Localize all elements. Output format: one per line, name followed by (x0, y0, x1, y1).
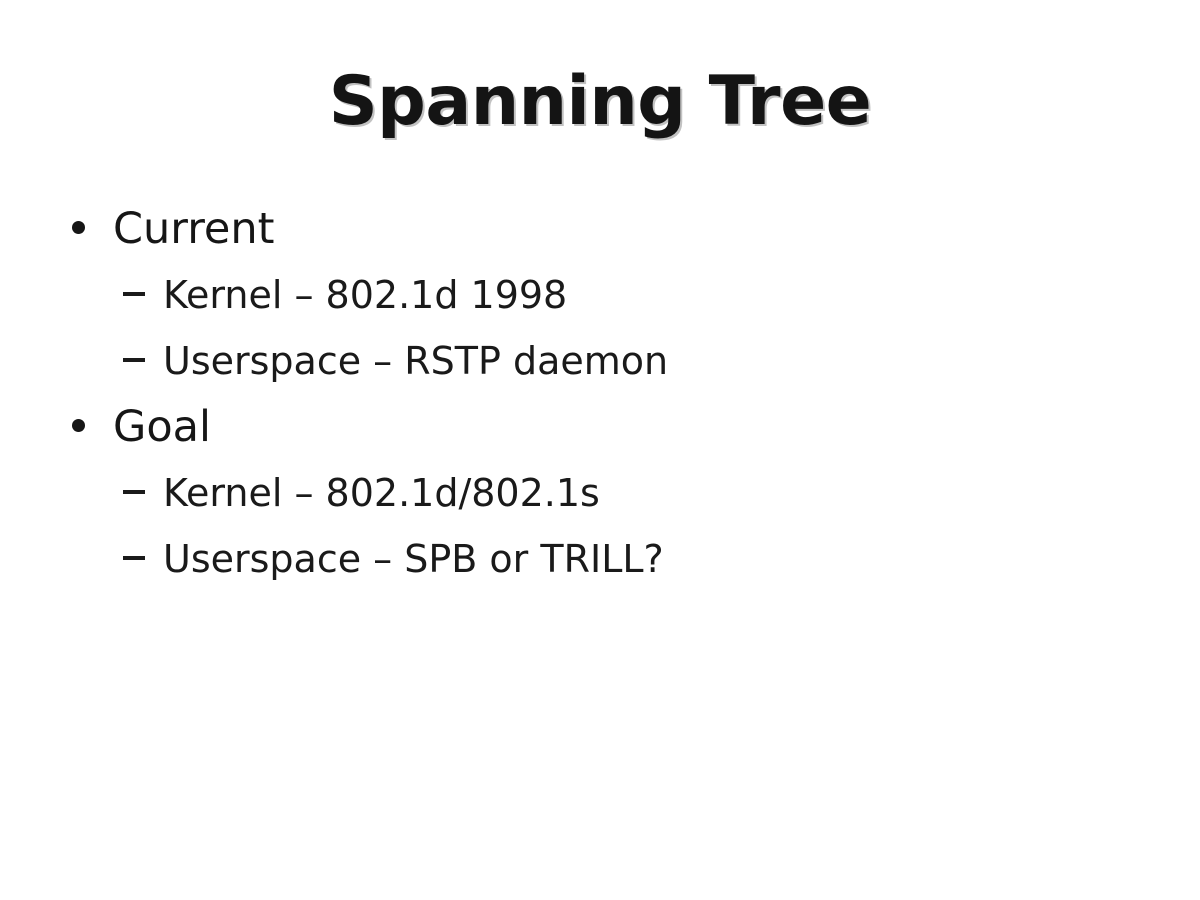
list-item-label: Kernel – 802.1d/802.1s (163, 460, 600, 526)
bullet-dash-icon (123, 328, 145, 394)
bullet-dash-icon (123, 460, 145, 526)
bullet-dot-icon (72, 196, 112, 262)
bullet-dot-icon (72, 394, 112, 460)
list-item-label: Userspace – SPB or TRILL? (163, 526, 664, 592)
bullet-list: Current Kernel – 802.1d 1998 Userspace –… (0, 196, 1200, 592)
presentation-slide: Spanning Tree Current Kernel – 802.1d 19… (0, 0, 1200, 900)
list-item: Userspace – RSTP daemon (0, 328, 1200, 394)
list-item: Current (0, 196, 1200, 262)
bullet-dash-icon (123, 526, 145, 592)
list-item: Goal (0, 394, 1200, 460)
list-item-label: Goal (113, 394, 211, 460)
list-item-label: Current (113, 196, 275, 262)
bullet-dash-icon (123, 262, 145, 328)
list-item: Kernel – 802.1d 1998 (0, 262, 1200, 328)
list-item: Kernel – 802.1d/802.1s (0, 460, 1200, 526)
list-item: Userspace – SPB or TRILL? (0, 526, 1200, 592)
list-item-label: Userspace – RSTP daemon (163, 328, 668, 394)
list-item-label: Kernel – 802.1d 1998 (163, 262, 567, 328)
page-title: Spanning Tree (0, 62, 1200, 142)
